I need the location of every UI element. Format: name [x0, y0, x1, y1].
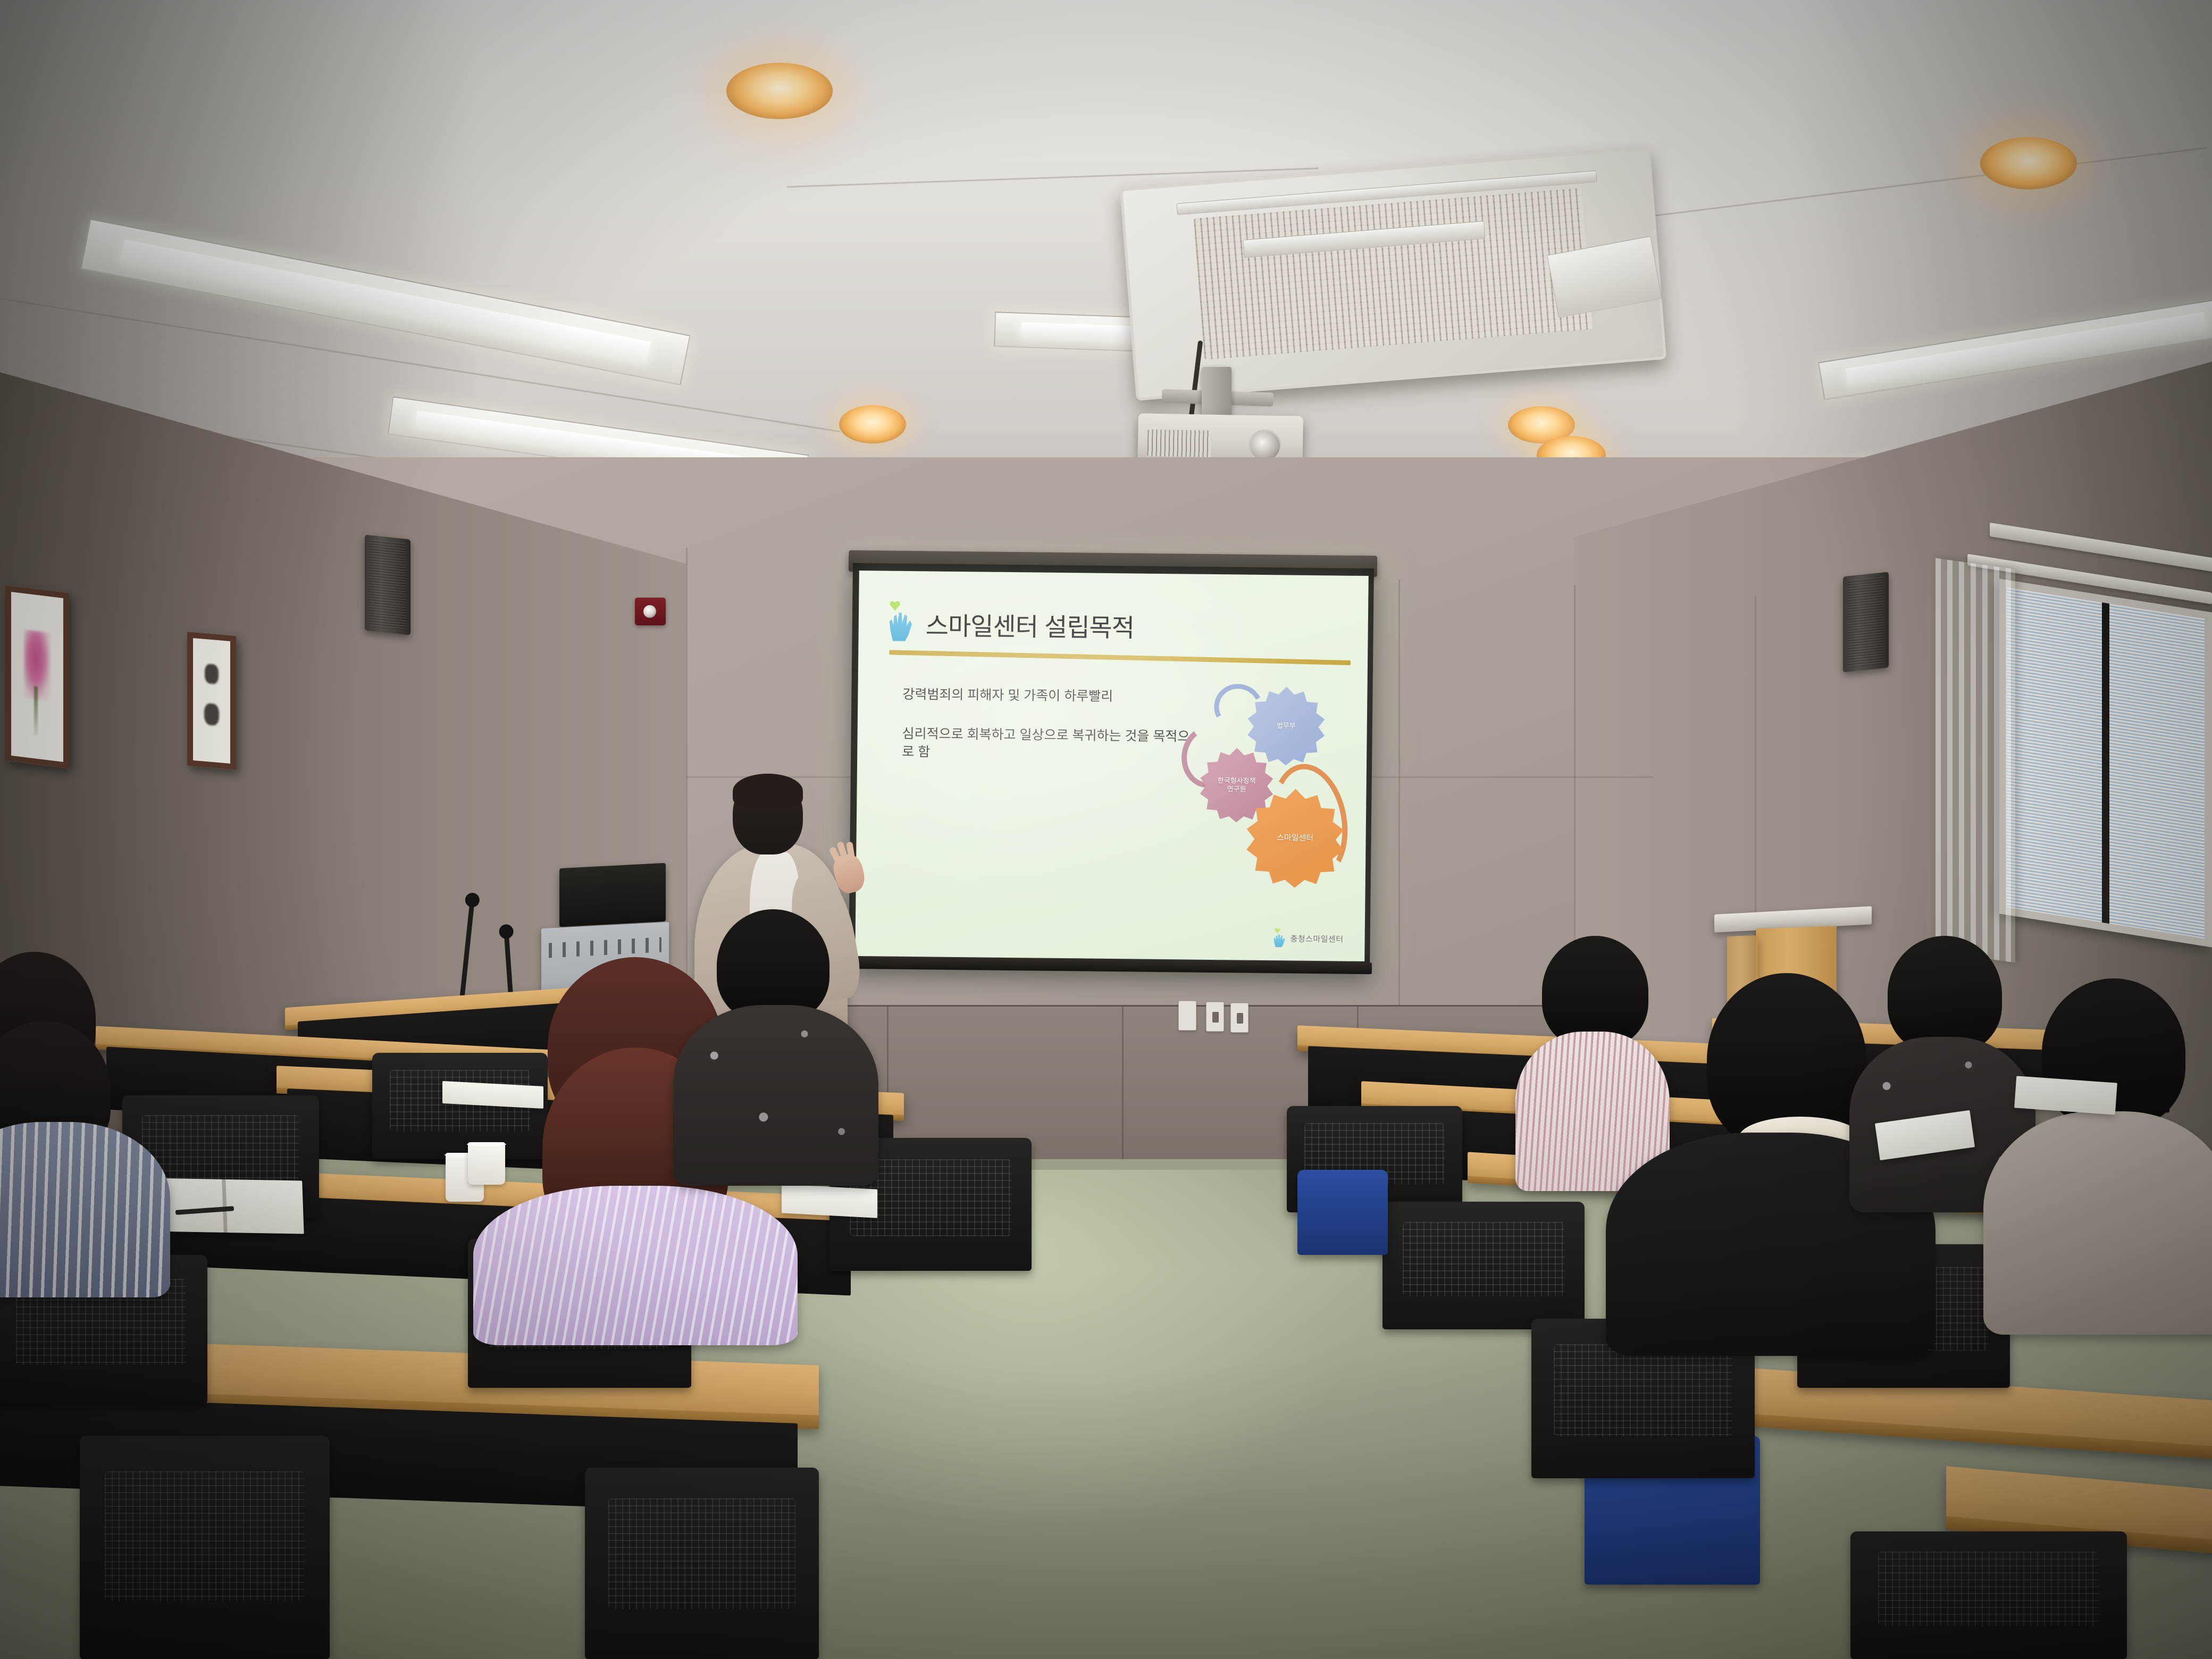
projection-screen: 스마일센터 설립목적 강력범죄의 피해자 및 가족이 하루빨리 심리적으로 회복… — [849, 563, 1374, 970]
chair[interactable] — [1850, 1531, 2127, 1659]
audience-top — [1983, 1111, 2212, 1335]
wall-switch[interactable] — [1230, 1003, 1249, 1033]
wall-outlet[interactable] — [1206, 1002, 1224, 1032]
slide-title: 스마일센터 설립목적 — [925, 605, 1134, 644]
gear-label: 스마일센터 — [1277, 833, 1313, 843]
wall-speaker — [1843, 572, 1889, 672]
av-monitor — [559, 863, 666, 927]
smile-hand-icon — [886, 603, 915, 644]
chair-accent-blue[interactable] — [1297, 1170, 1388, 1255]
recessed-downlight — [839, 405, 906, 443]
slide-title-row: 스마일센터 설립목적 — [886, 599, 1347, 652]
framed-calligraphy — [187, 632, 236, 770]
recessed-downlight — [726, 63, 833, 119]
wall-outlet[interactable] — [1178, 1001, 1196, 1030]
presentation-slide: 스마일센터 설립목적 강력범죄의 피해자 및 가족이 하루빨리 심리적으로 회복… — [855, 571, 1369, 961]
projector-vent — [1147, 430, 1212, 457]
slide-logo-text: 충청스마일센터 — [1290, 933, 1343, 944]
logo-heart-icon — [1275, 928, 1280, 933]
window-pane — [2007, 588, 2102, 923]
ceiling-ac-unit — [1120, 147, 1666, 400]
framed-flower-painting — [5, 585, 69, 769]
classroom-photo-scene: 스마일센터 설립목적 강력범죄의 피해자 및 가족이 하루빨리 심리적으로 회복… — [0, 0, 2212, 1659]
audience-floral-black — [681, 909, 872, 1207]
fire-alarm-pull-station[interactable] — [635, 598, 666, 625]
audience-far-right — [1999, 978, 2212, 1351]
slide-logo: 충청스마일센터 — [1272, 929, 1343, 947]
audience-left-striped-grey — [0, 952, 191, 1292]
gear-diagram: 법무부 한국형사정책 연구원 스마일센터 — [1182, 683, 1350, 919]
recessed-downlight — [1980, 137, 2077, 189]
hand-icon — [889, 611, 912, 641]
slide-body: 강력범죄의 피해자 및 가족이 하루빨리 심리적으로 회복하고 일상으로 복귀하… — [902, 686, 1201, 785]
audience-top — [473, 1186, 798, 1345]
audience-top — [0, 1122, 170, 1297]
ac-grille — [1193, 188, 1593, 359]
gear-smile-center: 스마일센터 — [1245, 789, 1345, 889]
audience-hair — [1888, 936, 2002, 1053]
slide-body-line-2: 심리적으로 회복하고 일상으로 복귀하는 것을 목적으로 함 — [902, 725, 1200, 764]
logo-hand-icon — [1272, 929, 1285, 946]
audience-top — [673, 1005, 878, 1186]
chair[interactable] — [1382, 1202, 1585, 1329]
logo-palm-icon — [1273, 934, 1285, 947]
gear-label: 법무부 — [1277, 722, 1296, 731]
slide-title-rule — [889, 650, 1351, 665]
window-curtain — [1935, 558, 2015, 962]
heart-icon — [890, 601, 900, 611]
presenter-hair-front — [733, 774, 803, 809]
chair[interactable] — [585, 1468, 819, 1659]
window-pane — [2109, 604, 2205, 939]
window — [1999, 579, 2212, 947]
slide-body-line-1: 강력범죄의 피해자 및 가족이 하루빨리 — [902, 686, 1200, 707]
chair[interactable] — [80, 1436, 330, 1659]
gear-label: 한국형사정책 연구원 — [1218, 776, 1256, 794]
wall-speaker — [365, 534, 410, 635]
